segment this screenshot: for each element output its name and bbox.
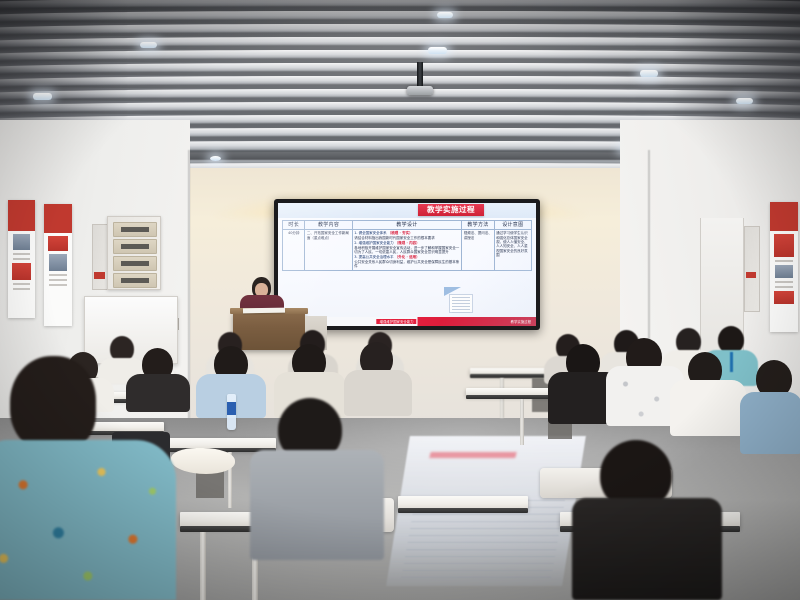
- lectern-papers: [243, 308, 285, 314]
- attendee-torso-blue-gray: [740, 392, 800, 454]
- slide-footer-left: 增强维护国家安全能力: [377, 319, 417, 324]
- right-panel-label: [746, 272, 756, 278]
- projection-display[interactable]: 教学实施过程 时长 教学内容 教学设计 教学方法 设计意图 40分钟: [274, 199, 540, 330]
- content-text: 二、开拓国家安全工作新局面（重点难点）: [307, 231, 349, 239]
- desk-leg: [200, 532, 206, 600]
- attendee-torso-gray-jacket: [250, 450, 384, 560]
- wall-poster-left-2: [44, 204, 72, 326]
- reflection-red-band: [429, 452, 516, 458]
- cell-intent: 通过学习使学生认识和强化总体国家安全观，使人人懂安全、人人知安全、人人重视国家安…: [494, 230, 531, 271]
- design-step-3-keywords: （外化 · 运用）: [395, 255, 420, 259]
- lanyard: [730, 352, 733, 372]
- design-step-2-detail: 各地积极开展维护国家安全宣传活动，进一步了解和掌握国家安全一切为了人民、一切依靠…: [354, 246, 460, 255]
- projector-mount-rod: [417, 62, 423, 88]
- col-header-duration: 时长: [283, 221, 305, 230]
- cell-duration: 40分钟: [283, 230, 305, 271]
- design-step-3-detail: 公共安全关系人民群众切身利益，维护公共安全是保障民生的基本条件: [354, 260, 460, 269]
- recessed-downlight: [640, 70, 658, 77]
- recessed-downlight: [33, 93, 52, 100]
- attendee-torso-white: [670, 380, 746, 436]
- ceiling-projector: [407, 86, 433, 95]
- slide-document-thumbnail: [449, 294, 473, 313]
- classroom-photo: 教学实施过程 时长 教学内容 教学设计 教学方法 设计意图 40分钟: [0, 0, 800, 600]
- desk-leg: [520, 399, 524, 445]
- design-step-1-detail: 请结合材料指出我国新时代国家安全工作的根本要求: [354, 236, 460, 240]
- col-header-intent: 设计意图: [494, 221, 531, 230]
- recessed-downlight: [428, 47, 447, 54]
- water-bottle: [227, 394, 236, 430]
- recessed-downlight: [736, 98, 753, 104]
- teaching-plan-table: 时长 教学内容 教学设计 教学方法 设计意图 40分钟 二、开拓国家安全工作新局…: [282, 220, 532, 271]
- col-header-content: 教学内容: [305, 221, 352, 230]
- slide-footer-right: 教学实施过程: [511, 319, 531, 324]
- design-step-2: 2. 增强维护国家安全能力 （微观 · 内容）: [354, 241, 460, 245]
- design-step-1: 1. 健全国家安全体系 （梳理 · 夯实）: [354, 231, 460, 235]
- cell-design: 1. 健全国家安全体系 （梳理 · 夯实） 请结合材料指出我国新时代国家安全工作…: [352, 230, 462, 271]
- electrical-distribution-panel: [107, 216, 161, 290]
- desk-edge: [466, 395, 556, 399]
- recessed-downlight: [210, 156, 221, 161]
- table-header-row: 时长 教学内容 教学设计 教学方法 设计意图: [283, 221, 532, 230]
- design-step-1-keywords: （梳理 · 夯实）: [388, 231, 413, 235]
- wall-poster-left-1: [8, 200, 35, 318]
- cell-method: 视频法、提问法、讲授法: [462, 230, 494, 271]
- attendee-torso-foreground-right: [572, 498, 722, 600]
- design-step-1-text: 健全国家安全体系: [359, 231, 387, 235]
- attendee-torso: [344, 370, 412, 416]
- design-step-3-num: 3.: [354, 255, 357, 259]
- attendee-torso-black-top: [126, 374, 190, 412]
- design-step-1-num: 1.: [354, 231, 357, 235]
- slide-surface: 教学实施过程 时长 教学内容 教学设计 教学方法 设计意图 40分钟: [278, 203, 536, 326]
- design-step-3: 3. 提高公共安全治理水平 （外化 · 运用）: [354, 255, 460, 259]
- attendee-head-floral-blouse: [10, 356, 96, 452]
- attendee-torso-floral-blouse: [0, 440, 176, 600]
- wall-poster-right-1: [770, 202, 798, 332]
- table-row: 40分钟 二、开拓国家安全工作新局面（重点难点） 1. 健全国家安全体系 （梳理…: [283, 230, 532, 271]
- slide-top-band: [278, 203, 536, 218]
- slide-title: 教学实施过程: [418, 204, 484, 216]
- col-header-method: 教学方法: [462, 221, 494, 230]
- design-step-2-num: 2.: [354, 241, 357, 245]
- cell-content: 二、开拓国家安全工作新局面（重点难点）: [305, 230, 352, 271]
- right-wall-panel: [744, 226, 760, 312]
- design-step-2-keywords: （微观 · 内容）: [395, 241, 420, 245]
- recessed-downlight: [437, 12, 453, 18]
- design-step-3-text: 提高公共安全治理水平: [359, 255, 394, 259]
- col-header-design: 教学设计: [352, 221, 462, 230]
- wooden-lectern: [233, 312, 305, 350]
- recessed-downlight: [140, 42, 157, 48]
- panel-red-label: [94, 272, 105, 279]
- design-step-2-text: 增强维护国家安全能力: [359, 241, 394, 245]
- desk-edge: [398, 508, 528, 513]
